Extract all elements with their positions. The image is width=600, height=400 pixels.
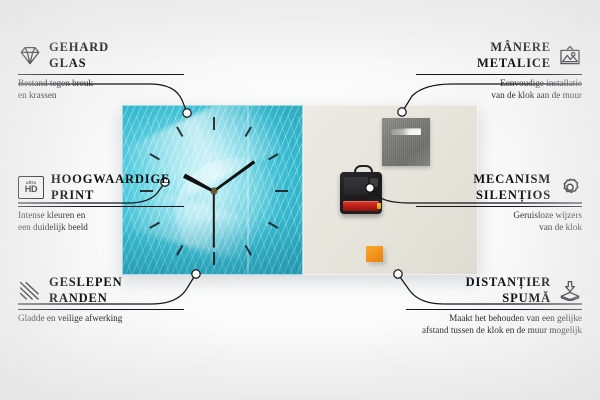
feature-geslepen-randen[interactable]: GESLEPEN RANDEN Gladde en veilige afwerk… xyxy=(18,275,184,325)
ultra-hd-icon: ultra HD xyxy=(18,176,44,199)
foam-spacer xyxy=(366,246,383,262)
feature-rule xyxy=(18,206,184,207)
hand-cap xyxy=(211,188,217,194)
hanging-loop xyxy=(354,165,373,177)
feature-head: DISTANȚIER SPUMĂ xyxy=(406,275,582,306)
feature-rule xyxy=(406,309,582,310)
feature-gehard-glas[interactable]: GEHARD GLAS Bestand tegen breuk en krass… xyxy=(18,40,184,102)
clock-tick xyxy=(275,190,288,192)
clock-mechanism xyxy=(340,172,382,214)
hour-hand xyxy=(182,173,214,193)
feature-desc: Gladde en veilige afwerking xyxy=(18,313,184,325)
mechanism-panel xyxy=(344,177,368,195)
feature-manere-metalice[interactable]: MÂNERE METALICE Eenvoudige installatie v… xyxy=(416,40,582,102)
second-hand xyxy=(213,191,215,248)
feature-desc: Geruisloze wijzers van de klok xyxy=(416,210,582,233)
clock-tick xyxy=(149,153,160,160)
feature-mecanism-silentios[interactable]: MECANISM SILENȚIOS Geruisloze wijzers va… xyxy=(416,172,582,234)
feature-head: MECANISM SILENȚIOS xyxy=(416,172,582,203)
clock-tick xyxy=(268,222,279,229)
clock-tick xyxy=(268,153,279,160)
feature-rule xyxy=(416,206,582,207)
feature-head: GEHARD GLAS xyxy=(18,40,184,71)
mechanism-knob xyxy=(370,178,378,187)
metal-hanger-plate xyxy=(382,118,430,166)
ultra-hd-main-label: HD xyxy=(25,185,38,194)
feature-distantier-spuma[interactable]: DISTANȚIER SPUMĂ Maakt het behouden van … xyxy=(406,275,582,337)
battery xyxy=(343,201,379,211)
clock-tick xyxy=(176,126,183,137)
foam-spacer-icon xyxy=(558,280,582,301)
diamond-icon xyxy=(18,45,42,66)
feature-title: GEHARD GLAS xyxy=(49,40,109,71)
feature-desc: Maakt het behouden van een gelijke afsta… xyxy=(406,313,582,336)
feature-head: ultra HD HOOGWAARDIGE PRINT xyxy=(18,172,184,203)
feature-rule xyxy=(18,74,184,75)
feature-head: MÂNERE METALICE xyxy=(416,40,582,71)
feature-desc: Bestand tegen breuk en krassen xyxy=(18,78,184,101)
feature-rule xyxy=(416,74,582,75)
feature-hoogwaardige-print[interactable]: ultra HD HOOGWAARDIGE PRINT Intense kleu… xyxy=(18,172,184,234)
feature-title: MÂNERE METALICE xyxy=(477,40,551,71)
clock-tick xyxy=(176,245,183,256)
feature-rule xyxy=(18,309,184,310)
picture-frame-hanging-icon xyxy=(558,45,582,66)
clock-tick xyxy=(213,252,215,265)
bevelled-edges-icon xyxy=(18,280,42,301)
feature-title: HOOGWAARDIGE PRINT xyxy=(51,172,170,203)
feature-desc: Eenvoudige installatie van de klok aan d… xyxy=(416,78,582,101)
feature-title: DISTANȚIER SPUMĂ xyxy=(466,275,551,306)
feature-desc: Intense kleuren en een duidelijk beeld xyxy=(18,210,184,233)
feature-title: MECANISM SILENȚIOS xyxy=(473,172,551,203)
infographic-canvas: GEHARD GLAS Bestand tegen breuk en krass… xyxy=(0,0,600,400)
clock-tick xyxy=(244,245,251,256)
clock-tick xyxy=(244,126,251,137)
gear-icon xyxy=(558,177,582,198)
minute-hand xyxy=(212,160,255,193)
clock-tick xyxy=(213,117,215,130)
feature-head: GESLEPEN RANDEN xyxy=(18,275,184,306)
hanger-slot xyxy=(391,128,421,135)
feature-title: GESLEPEN RANDEN xyxy=(49,275,123,306)
